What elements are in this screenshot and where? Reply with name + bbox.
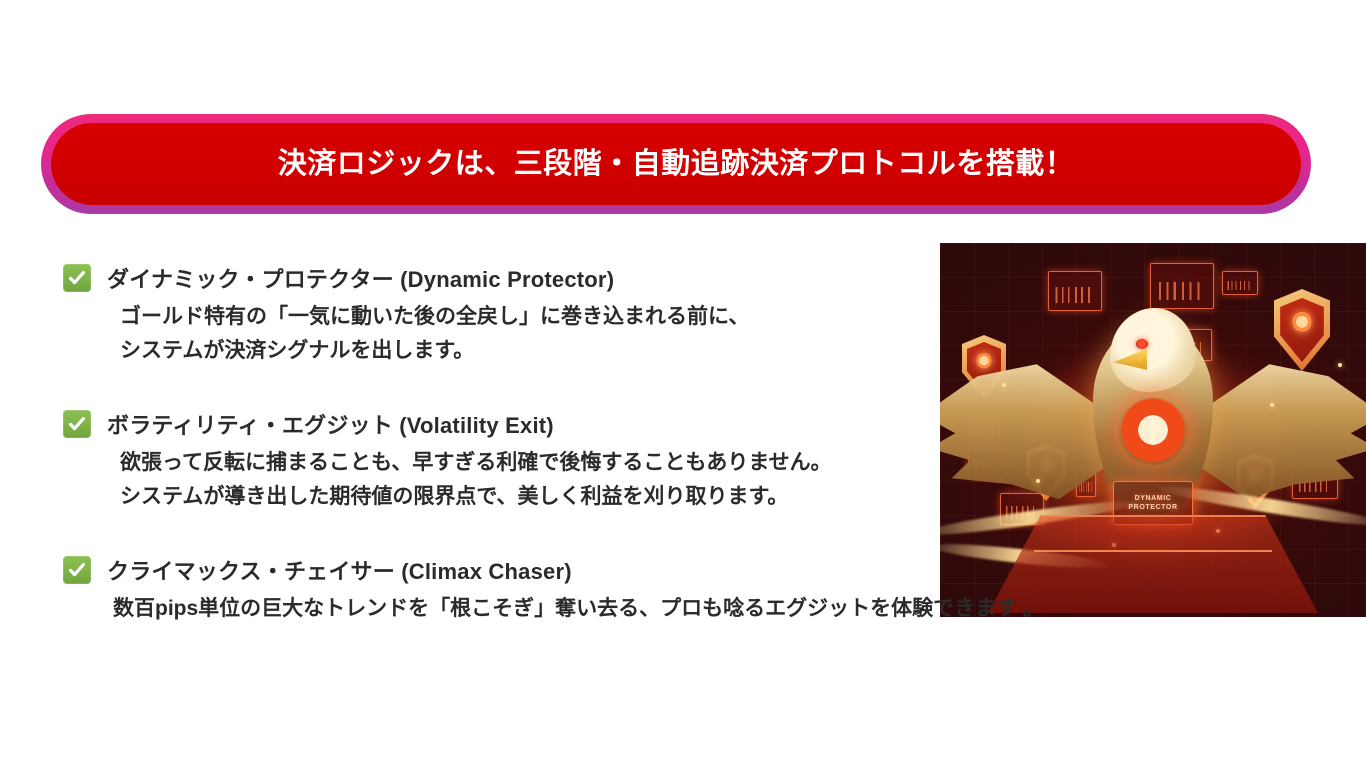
feature-title: ボラティリティ・エグジット (Volatility Exit) [107, 408, 554, 440]
check-mark-icon [63, 410, 91, 438]
plaque-line-1: DYNAMIC [1135, 495, 1172, 502]
dynamic-protector-hero-image: DYNAMIC PROTECTOR [940, 243, 1366, 617]
feature-title: クライマックス・チェイサー (Climax Chaser) [107, 554, 572, 586]
spark-particle [1002, 383, 1006, 387]
feature-line: ゴールド特有の「一気に動いた後の全戻し」に巻き込まれる前に、 [120, 300, 945, 334]
feature-line: システムが決済シグナルを出します。 [120, 334, 945, 368]
plaque-line-2: PROTECTOR [1128, 504, 1177, 511]
feature-line: 数百pips単位の巨大なトレンドを「根こそぎ」奪い去る、プロも唸るエグジットを体… [113, 592, 945, 626]
feature-heading-row: ダイナミック・プロテクター (Dynamic Protector) [0, 262, 945, 294]
eagle-beak [1113, 349, 1147, 375]
check-mark-icon [63, 264, 91, 292]
spark-particle [1036, 479, 1040, 483]
feature-heading-row: クライマックス・チェイサー (Climax Chaser) [0, 554, 945, 586]
list-item: ボラティリティ・エグジット (Volatility Exit) 欲張って反転に捕… [0, 408, 945, 514]
feature-list: ダイナミック・プロテクター (Dynamic Protector) ゴールド特有… [0, 262, 945, 660]
hud-panel-icon [1222, 271, 1258, 295]
spark-particle [1338, 363, 1342, 367]
headline-banner-inner: 決済ロジックは、三段階・自動追跡決済プロトコルを搭載！ [51, 123, 1301, 205]
feature-title: ダイナミック・プロテクター (Dynamic Protector) [107, 262, 614, 294]
hud-panel-icon [1150, 263, 1214, 309]
headline-banner: 決済ロジックは、三段階・自動追跡決済プロトコルを搭載！ [41, 114, 1311, 214]
feature-body: 欲張って反転に捕まることも、早すぎる利確で後悔することもありません。 システムが… [0, 446, 945, 514]
list-item: ダイナミック・プロテクター (Dynamic Protector) ゴールド特有… [0, 262, 945, 368]
chest-gear-icon [1118, 395, 1188, 465]
feature-body: 数百pips単位の巨大なトレンドを「根こそぎ」奪い去る、プロも唸るエグジットを体… [0, 592, 945, 626]
check-mark-icon [63, 556, 91, 584]
eagle-head [1110, 308, 1196, 392]
feature-body: ゴールド特有の「一気に動いた後の全戻し」に巻き込まれる前に、 システムが決済シグ… [0, 300, 945, 368]
feature-line: システムが導き出した期待値の限界点で、美しく利益を刈り取ります。 [120, 480, 945, 514]
feature-heading-row: ボラティリティ・エグジット (Volatility Exit) [0, 408, 945, 440]
gear-icon [977, 352, 992, 369]
hud-panel-icon [1048, 271, 1102, 311]
list-item: クライマックス・チェイサー (Climax Chaser) 数百pips単位の巨… [0, 554, 945, 626]
eagle-eye [1136, 339, 1148, 349]
spark-particle [1270, 403, 1274, 407]
feature-line: 欲張って反転に捕まることも、早すぎる利確で後悔することもありません。 [120, 446, 945, 480]
page-title: 決済ロジックは、三段階・自動追跡決済プロトコルを搭載！ [278, 150, 1075, 179]
